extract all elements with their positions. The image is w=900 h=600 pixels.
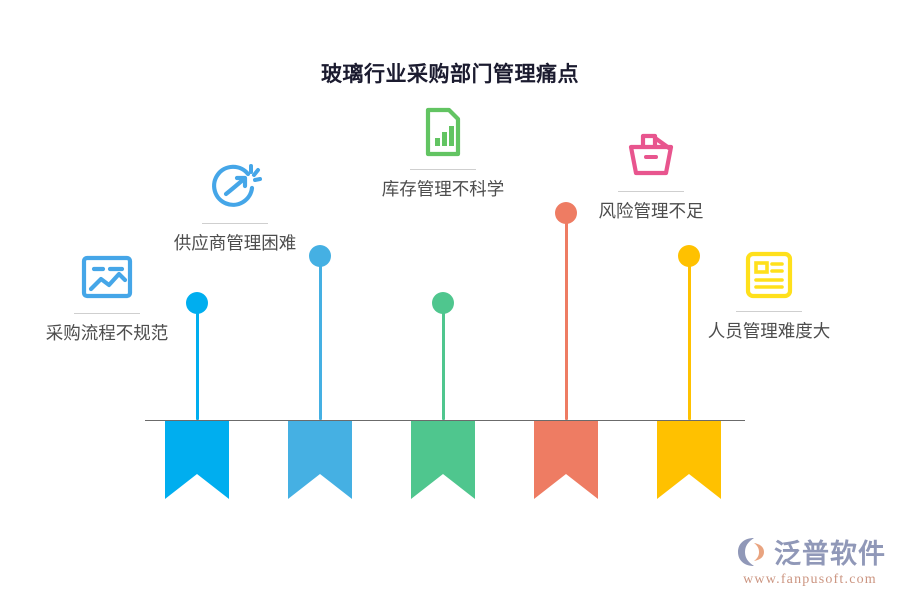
stem-line-3 (442, 303, 445, 420)
timeline-baseline (145, 420, 745, 421)
watermark-brand-name: 泛普软件 (774, 532, 886, 571)
pain-point-label-block-3: 库存管理不科学 (323, 104, 563, 200)
pain-point-label-block-5: 人员管理难度大 (649, 246, 889, 342)
banner-flag-4[interactable] (534, 421, 598, 499)
page-title: 玻璃行业采购部门管理痛点 (0, 58, 900, 88)
document-bar-chart-icon (323, 104, 563, 162)
target-arrow-icon (115, 158, 355, 216)
label-divider-3 (410, 169, 476, 170)
stem-dot-3[interactable] (432, 292, 454, 314)
label-divider-1 (74, 313, 140, 314)
stem-line-2 (319, 256, 322, 420)
stem-line-4 (565, 213, 568, 420)
banner-flag-1[interactable] (165, 421, 229, 499)
pain-point-label-1: 采购流程不规范 (0, 323, 227, 344)
label-divider-4 (618, 191, 684, 192)
pain-point-label-4: 风险管理不足 (531, 201, 771, 222)
pain-point-label-block-2: 供应商管理困难 (115, 158, 355, 254)
pain-point-label-block-1: 采购流程不规范 (0, 248, 227, 344)
watermark: 泛普软件 www.fanpusoft.com (734, 532, 886, 588)
shopping-basket-icon (531, 126, 771, 184)
banner-flag-3[interactable] (411, 421, 475, 499)
pain-point-label-block-4: 风险管理不足 (531, 126, 771, 222)
banner-flag-2[interactable] (288, 421, 352, 499)
label-divider-5 (736, 311, 802, 312)
image-picture-icon (0, 248, 227, 306)
watermark-brand-row: 泛普软件 (734, 532, 886, 571)
pain-point-label-5: 人员管理难度大 (649, 321, 889, 342)
banner-flag-5[interactable] (657, 421, 721, 499)
pain-point-label-2: 供应商管理困难 (115, 233, 355, 254)
article-list-icon (649, 246, 889, 304)
label-divider-2 (202, 223, 268, 224)
infographic-canvas: 玻璃行业采购部门管理痛点 采购流程不规范 (0, 0, 900, 600)
watermark-url: www.fanpusoft.com (743, 572, 877, 588)
pain-point-label-3: 库存管理不科学 (323, 179, 563, 200)
fanpu-logo-icon (734, 536, 768, 568)
